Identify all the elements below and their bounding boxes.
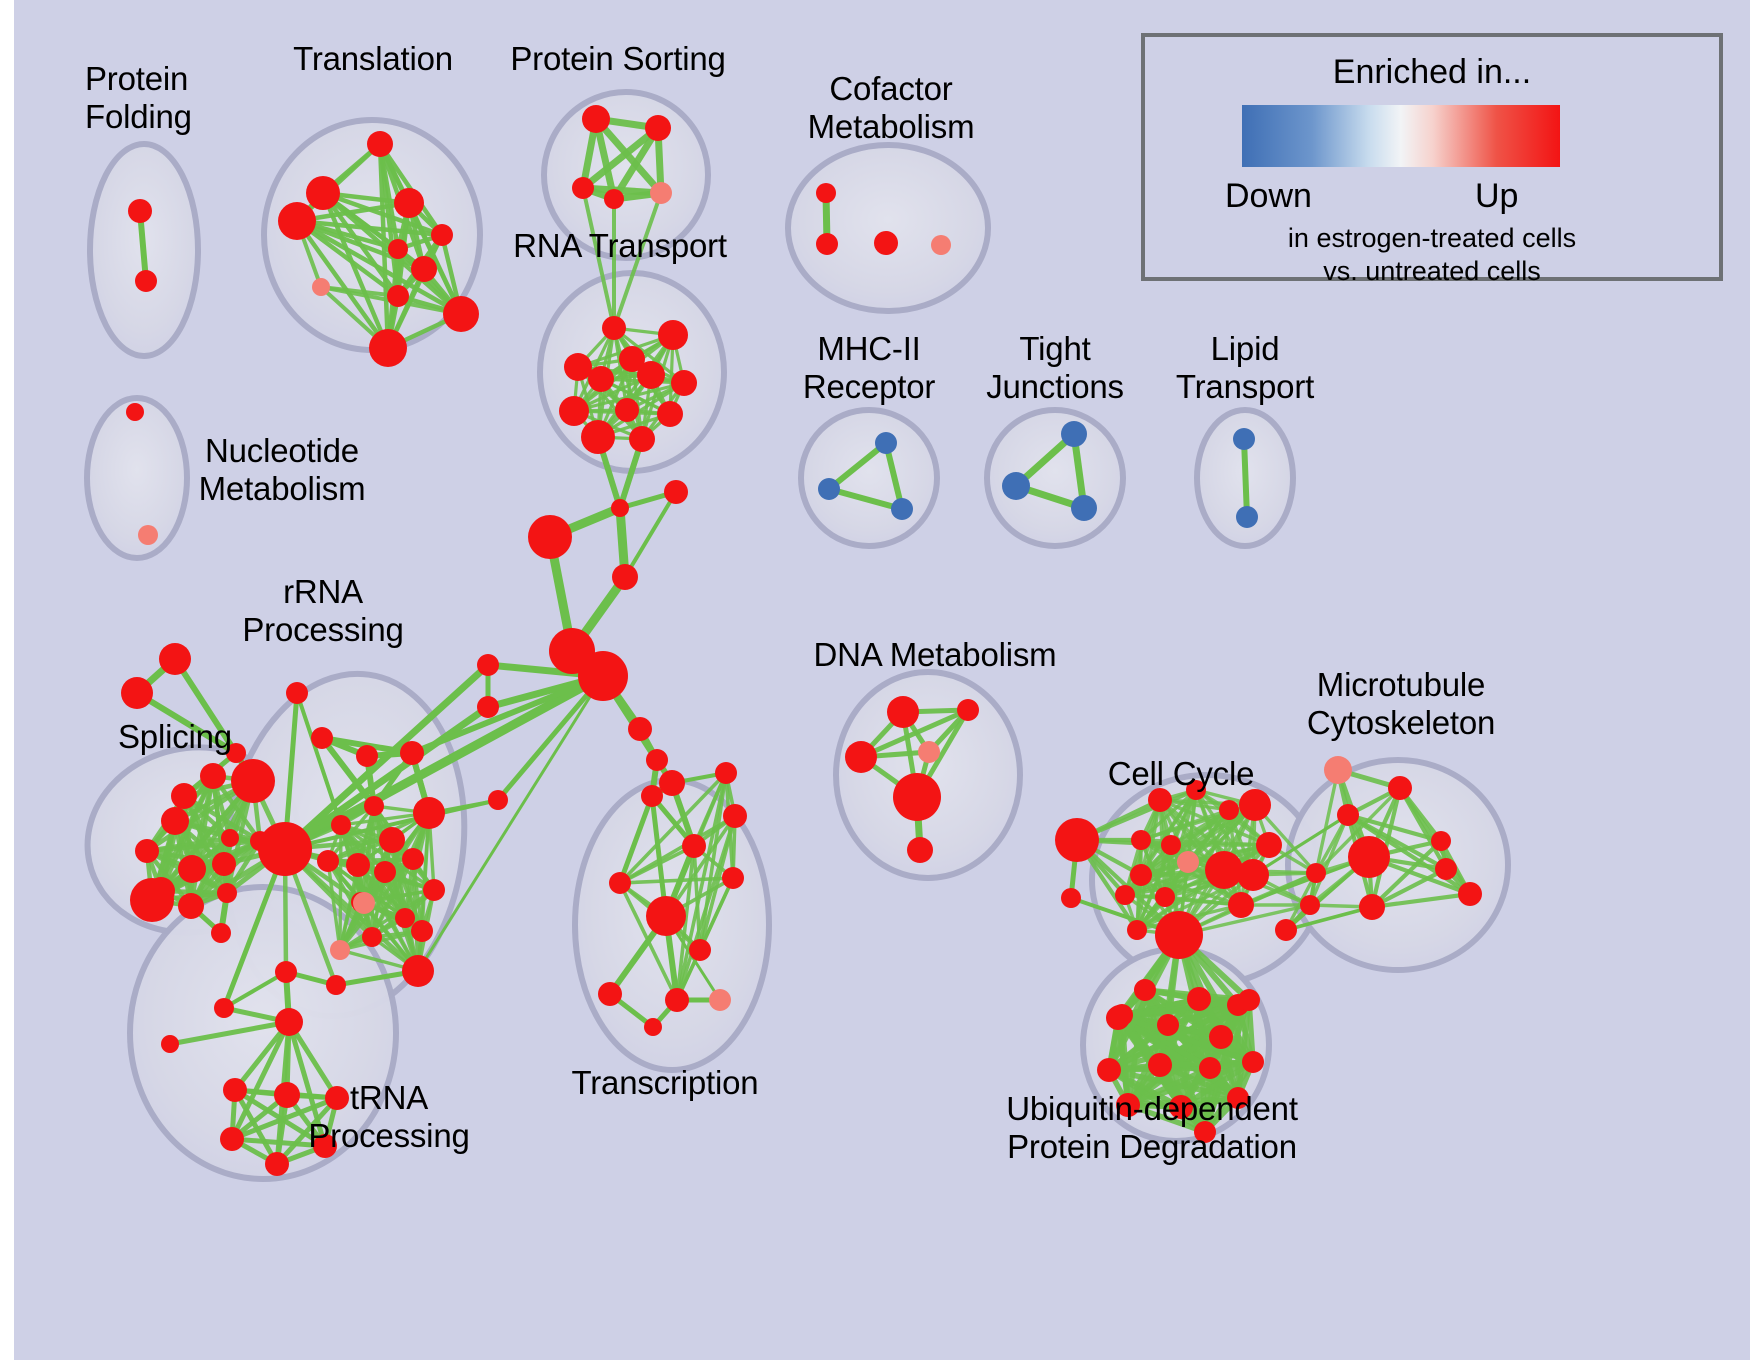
- network-node[interactable]: [306, 176, 340, 210]
- network-node[interactable]: [689, 939, 711, 961]
- network-node[interactable]: [356, 745, 378, 767]
- network-node[interactable]: [394, 188, 424, 218]
- network-node[interactable]: [604, 189, 624, 209]
- network-node[interactable]: [1115, 885, 1135, 905]
- network-node[interactable]: [874, 231, 898, 255]
- network-node[interactable]: [1199, 1057, 1221, 1079]
- network-node[interactable]: [1237, 859, 1269, 891]
- network-node[interactable]: [1061, 888, 1081, 908]
- cluster-label-mhc-ii: MHC-II Receptor: [803, 330, 935, 405]
- network-node[interactable]: [612, 564, 638, 590]
- network-node[interactable]: [650, 182, 672, 204]
- network-node[interactable]: [286, 682, 308, 704]
- network-node[interactable]: [388, 239, 408, 259]
- network-node[interactable]: [628, 717, 652, 741]
- network-node[interactable]: [161, 1035, 179, 1053]
- network-node[interactable]: [1275, 919, 1297, 941]
- network-node[interactable]: [374, 861, 396, 883]
- network-node[interactable]: [395, 908, 415, 928]
- network-node[interactable]: [1177, 851, 1199, 873]
- network-node[interactable]: [178, 855, 206, 883]
- cluster-label-trna: tRNA Processing: [308, 1079, 469, 1154]
- network-node[interactable]: [402, 848, 424, 870]
- cluster-label-cofactor: Cofactor Metabolism: [808, 70, 975, 145]
- network-node[interactable]: [1055, 818, 1099, 862]
- network-node[interactable]: [402, 955, 434, 987]
- network-node[interactable]: [1228, 892, 1254, 918]
- cluster-label-protein-sorting: Protein Sorting: [510, 40, 725, 78]
- network-node[interactable]: [1061, 421, 1087, 447]
- network-node[interactable]: [135, 839, 159, 863]
- network-node[interactable]: [223, 1078, 247, 1102]
- network-node[interactable]: [178, 893, 204, 919]
- legend-title: Enriched in...: [1145, 53, 1719, 92]
- network-node[interactable]: [1155, 911, 1203, 959]
- network-edge: [1244, 439, 1247, 517]
- network-node[interactable]: [130, 878, 174, 922]
- network-node[interactable]: [1127, 920, 1147, 940]
- cluster-label-dna-metabolism: DNA Metabolism: [814, 636, 1057, 674]
- network-node[interactable]: [641, 785, 663, 807]
- network-node[interactable]: [311, 727, 333, 749]
- network-node[interactable]: [1209, 1025, 1233, 1049]
- network-node[interactable]: [413, 797, 445, 829]
- network-node[interactable]: [367, 131, 393, 157]
- network-node[interactable]: [615, 398, 639, 422]
- network-node[interactable]: [646, 749, 668, 771]
- network-node[interactable]: [1348, 836, 1390, 878]
- network-node[interactable]: [217, 883, 237, 903]
- cluster-label-nucleotide: Nucleotide Metabolism: [199, 432, 366, 507]
- network-node[interactable]: [258, 822, 312, 876]
- network-node[interactable]: [431, 224, 453, 246]
- network-node[interactable]: [1242, 1051, 1264, 1073]
- network-node[interactable]: [528, 515, 572, 559]
- network-node[interactable]: [1131, 830, 1151, 850]
- network-node[interactable]: [646, 896, 686, 936]
- network-node[interactable]: [1306, 863, 1326, 883]
- network-node[interactable]: [1236, 506, 1258, 528]
- network-node[interactable]: [278, 202, 316, 240]
- network-node[interactable]: [265, 1152, 289, 1176]
- legend-subtitle-line2: vs. untreated cells: [1145, 256, 1719, 287]
- network-node[interactable]: [665, 988, 689, 1012]
- cluster-label-rna-transport: RNA Transport: [513, 227, 727, 265]
- network-node[interactable]: [477, 696, 499, 718]
- network-node[interactable]: [1359, 894, 1385, 920]
- network-node[interactable]: [1256, 832, 1282, 858]
- network-node[interactable]: [387, 285, 409, 307]
- network-node[interactable]: [682, 834, 706, 858]
- network-node[interactable]: [598, 982, 622, 1006]
- network-node[interactable]: [609, 872, 631, 894]
- network-node[interactable]: [1233, 428, 1255, 450]
- cluster-label-cell-cycle: Cell Cycle: [1108, 755, 1255, 793]
- network-node[interactable]: [411, 256, 437, 282]
- network-node[interactable]: [1238, 989, 1260, 1011]
- cluster-label-ubiquitin: Ubiquitin-dependent Protein Degradation: [1006, 1090, 1298, 1165]
- network-node[interactable]: [211, 923, 231, 943]
- network-node[interactable]: [564, 353, 592, 381]
- network-node[interactable]: [161, 807, 189, 835]
- network-node[interactable]: [581, 420, 615, 454]
- network-node[interactable]: [1219, 800, 1239, 820]
- network-node[interactable]: [411, 920, 433, 942]
- network-node[interactable]: [816, 233, 838, 255]
- network-node[interactable]: [1157, 1014, 1179, 1036]
- network-node[interactable]: [212, 852, 236, 876]
- network-node[interactable]: [715, 762, 737, 784]
- network-node[interactable]: [723, 804, 747, 828]
- network-node[interactable]: [1097, 1058, 1121, 1082]
- network-node[interactable]: [578, 651, 628, 701]
- network-node[interactable]: [274, 1082, 300, 1108]
- network-node[interactable]: [1187, 987, 1211, 1011]
- nucleotide-hull: [87, 398, 187, 558]
- network-node[interactable]: [1431, 831, 1451, 851]
- network-node[interactable]: [671, 370, 697, 396]
- network-node[interactable]: [582, 105, 610, 133]
- network-node[interactable]: [629, 426, 655, 452]
- network-node[interactable]: [1300, 895, 1320, 915]
- legend-up-label: Up: [1475, 177, 1518, 216]
- network-node[interactable]: [362, 927, 382, 947]
- network-node[interactable]: [400, 741, 424, 765]
- network-node[interactable]: [1071, 495, 1097, 521]
- legend-down-label: Down: [1225, 177, 1312, 216]
- network-node[interactable]: [364, 796, 384, 816]
- network-node[interactable]: [275, 1008, 303, 1036]
- network-node[interactable]: [637, 361, 665, 389]
- network-node[interactable]: [572, 177, 594, 199]
- network-node[interactable]: [317, 850, 339, 872]
- network-node[interactable]: [1239, 789, 1271, 821]
- network-node[interactable]: [353, 892, 375, 914]
- cluster-label-microtubule: Microtubule Cytoskeleton: [1307, 666, 1495, 741]
- network-node[interactable]: [231, 759, 275, 803]
- network-node[interactable]: [875, 432, 897, 454]
- network-node[interactable]: [818, 478, 840, 500]
- cluster-label-protein-folding: Protein Folding: [85, 60, 192, 135]
- network-node[interactable]: [477, 654, 499, 676]
- network-node[interactable]: [1002, 472, 1030, 500]
- network-node[interactable]: [159, 643, 191, 675]
- network-node[interactable]: [1435, 858, 1457, 880]
- network-node[interactable]: [1130, 864, 1152, 886]
- network-node[interactable]: [664, 480, 688, 504]
- network-node[interactable]: [1108, 1005, 1130, 1027]
- legend-subtitle-line1: in estrogen-treated cells: [1145, 223, 1719, 254]
- network-node[interactable]: [907, 837, 933, 863]
- cluster-label-transcription: Transcription: [572, 1064, 759, 1102]
- network-node[interactable]: [346, 853, 370, 877]
- cluster-label-lipid-transport: Lipid Transport: [1176, 330, 1314, 405]
- network-node[interactable]: [1458, 882, 1482, 906]
- network-node[interactable]: [488, 790, 508, 810]
- network-node[interactable]: [135, 270, 157, 292]
- network-edge: [412, 676, 603, 753]
- network-node[interactable]: [602, 316, 626, 340]
- network-node[interactable]: [722, 867, 744, 889]
- network-node[interactable]: [171, 783, 197, 809]
- network-node[interactable]: [1161, 835, 1181, 855]
- cluster-label-translation: Translation: [293, 40, 453, 78]
- network-node[interactable]: [657, 401, 683, 427]
- network-node[interactable]: [221, 829, 239, 847]
- network-node[interactable]: [214, 998, 234, 1018]
- network-node[interactable]: [326, 975, 346, 995]
- network-node[interactable]: [644, 1018, 662, 1036]
- network-node[interactable]: [658, 320, 688, 350]
- network-node[interactable]: [957, 699, 979, 721]
- network-node[interactable]: [893, 773, 941, 821]
- network-node[interactable]: [1155, 887, 1175, 907]
- network-node[interactable]: [887, 696, 919, 728]
- network-node[interactable]: [1324, 756, 1352, 784]
- cluster-label-rrna: rRNA Processing: [242, 573, 403, 648]
- network-node[interactable]: [816, 183, 836, 203]
- legend-panel: Enriched in... Down Up in estrogen-treat…: [1141, 33, 1723, 281]
- network-node[interactable]: [423, 879, 445, 901]
- network-node[interactable]: [1148, 1053, 1172, 1077]
- network-node[interactable]: [379, 827, 405, 853]
- network-node[interactable]: [126, 403, 144, 421]
- network-node[interactable]: [611, 499, 629, 517]
- network-node[interactable]: [845, 741, 877, 773]
- network-node[interactable]: [275, 961, 297, 983]
- network-node[interactable]: [891, 498, 913, 520]
- network-node[interactable]: [931, 235, 951, 255]
- network-node[interactable]: [918, 741, 940, 763]
- network-node[interactable]: [128, 199, 152, 223]
- network-node[interactable]: [121, 677, 153, 709]
- network-node[interactable]: [330, 940, 350, 960]
- figure-canvas: Protein FoldingTranslationProtein Sortin…: [0, 0, 1750, 1360]
- network-node[interactable]: [331, 815, 351, 835]
- mhc-ii-hull: [801, 410, 937, 546]
- network-node[interactable]: [138, 525, 158, 545]
- network-node[interactable]: [369, 329, 407, 367]
- network-node[interactable]: [588, 366, 614, 392]
- network-node[interactable]: [709, 989, 731, 1011]
- network-node[interactable]: [645, 115, 671, 141]
- legend-color-gradient-bar: [1242, 105, 1560, 167]
- network-node[interactable]: [559, 396, 589, 426]
- cluster-label-tight-junctions: Tight Junctions: [986, 330, 1124, 405]
- network-node[interactable]: [1388, 776, 1412, 800]
- network-node[interactable]: [1134, 979, 1156, 1001]
- cofactor-hull: [788, 145, 988, 311]
- network-node[interactable]: [659, 770, 685, 796]
- network-node[interactable]: [443, 296, 479, 332]
- network-node[interactable]: [1337, 804, 1359, 826]
- network-node[interactable]: [1205, 851, 1243, 889]
- network-node[interactable]: [312, 278, 330, 296]
- network-node[interactable]: [200, 763, 226, 789]
- network-node[interactable]: [220, 1127, 244, 1151]
- cluster-label-splicing: Splicing: [118, 718, 232, 756]
